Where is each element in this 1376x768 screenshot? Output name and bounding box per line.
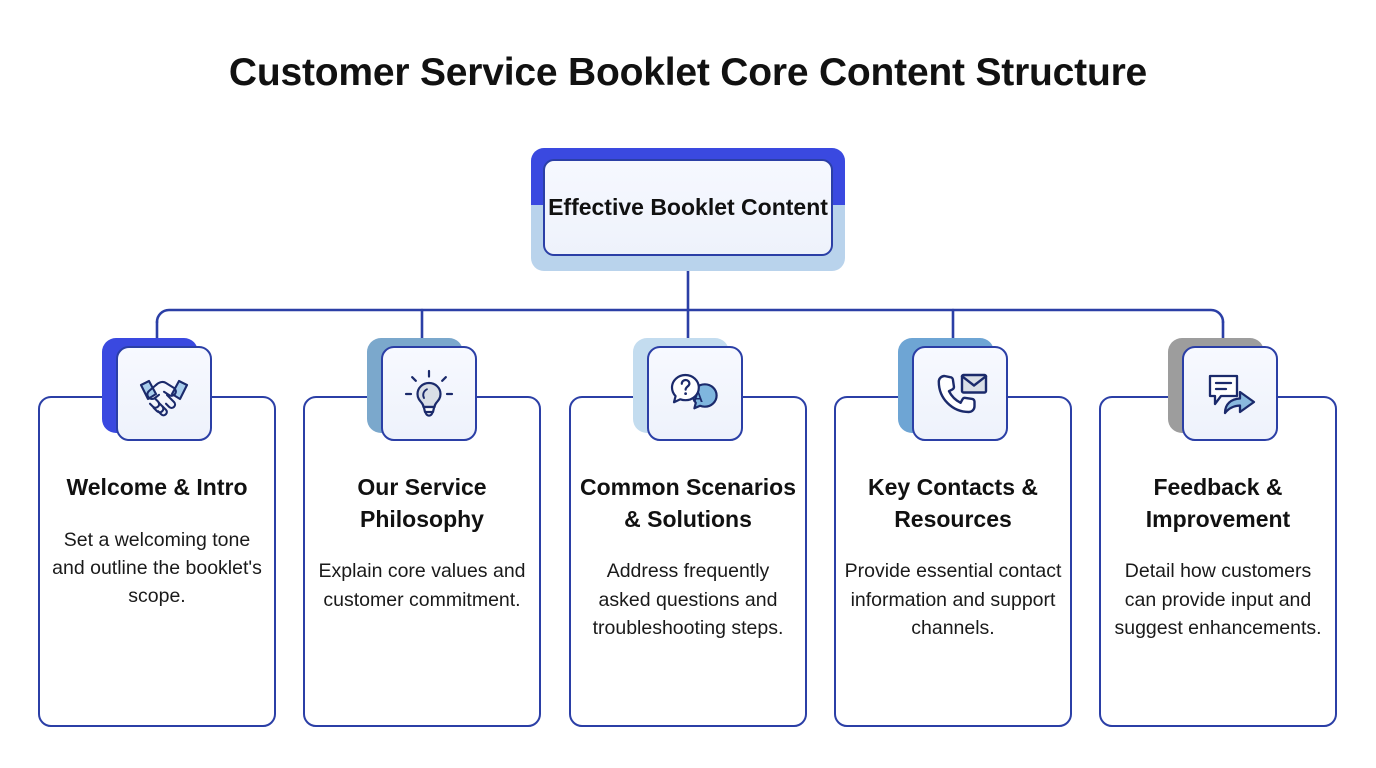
comment-share-icon — [1202, 368, 1258, 420]
icon-badge-key-contacts[interactable] — [898, 338, 1008, 441]
badge-tile: A — [647, 346, 743, 441]
child-card-common-scenarios[interactable]: Common Scenarios & Solutions Address fre… — [569, 396, 807, 727]
card-title: Our Service Philosophy — [313, 472, 531, 535]
child-card-welcome-intro[interactable]: Welcome & Intro Set a welcoming tone and… — [38, 396, 276, 727]
handshake-icon — [136, 368, 192, 420]
icon-badge-feedback-improvement[interactable] — [1168, 338, 1278, 441]
card-description: Address frequently asked questions and t… — [579, 557, 797, 642]
icon-badge-welcome-intro[interactable] — [102, 338, 212, 441]
root-node-card[interactable]: Effective Booklet Content — [543, 159, 833, 256]
badge-tile — [912, 346, 1008, 441]
connector-bus — [157, 310, 1223, 322]
page-title: Customer Service Booklet Core Content St… — [0, 52, 1376, 95]
card-title: Key Contacts & Resources — [844, 472, 1062, 535]
card-title: Welcome & Intro — [48, 472, 266, 504]
card-description: Explain core values and customer commitm… — [313, 557, 531, 614]
child-card-key-contacts[interactable]: Key Contacts & Resources Provide essenti… — [834, 396, 1072, 727]
badge-tile — [1182, 346, 1278, 441]
card-description: Set a welcoming tone and outline the boo… — [48, 526, 266, 611]
child-card-feedback-improvement[interactable]: Feedback & Improvement Detail how custom… — [1099, 396, 1337, 727]
icon-badge-common-scenarios[interactable]: A — [633, 338, 743, 441]
root-node-label: Effective Booklet Content — [548, 191, 828, 224]
root-node[interactable]: Effective Booklet Content — [531, 148, 845, 271]
card-description: Detail how customers can provide input a… — [1109, 557, 1327, 642]
badge-tile — [381, 346, 477, 441]
card-title: Common Scenarios & Solutions — [579, 472, 797, 535]
question-answer-bubbles-icon: A — [666, 367, 724, 421]
lightbulb-icon — [402, 367, 456, 421]
card-title: Feedback & Improvement — [1109, 472, 1327, 535]
badge-tile — [116, 346, 212, 441]
child-card-service-philosophy[interactable]: Our Service Philosophy Explain core valu… — [303, 396, 541, 727]
phone-mail-icon — [932, 367, 988, 421]
card-description: Provide essential contact information an… — [844, 557, 1062, 642]
svg-text:A: A — [693, 389, 703, 405]
icon-badge-service-philosophy[interactable] — [367, 338, 477, 441]
